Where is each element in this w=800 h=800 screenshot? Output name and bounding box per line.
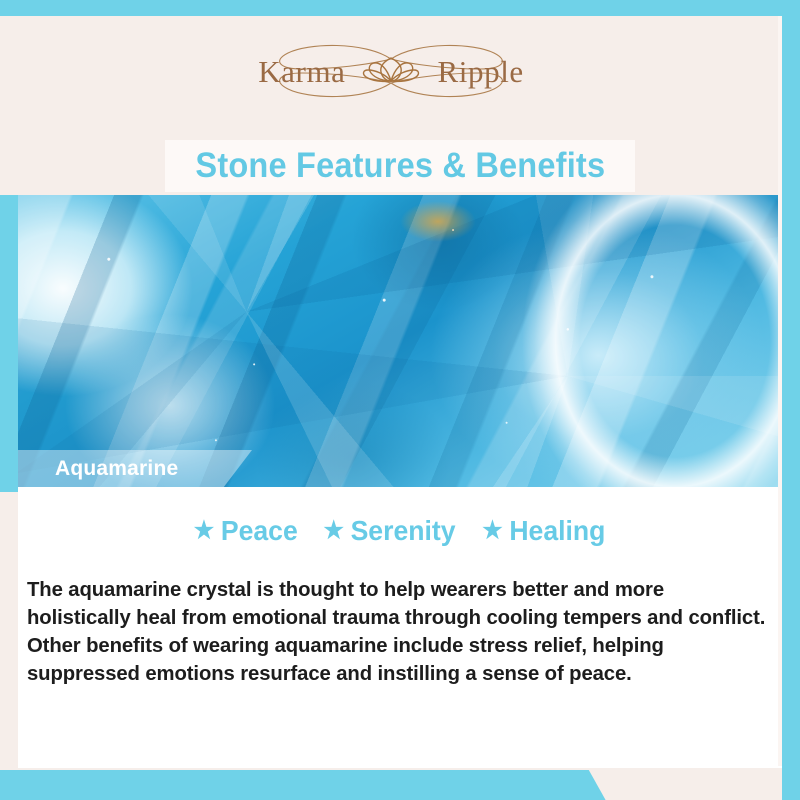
benefit-label: Peace bbox=[221, 515, 298, 547]
brand-logo: Karma Ripple bbox=[236, 39, 546, 103]
brand-name-second: Ripple bbox=[438, 56, 524, 87]
aquamarine-crystal-photo bbox=[17, 195, 782, 487]
benefit-item: ★ Serenity bbox=[324, 515, 456, 547]
brand-header: Karma Ripple bbox=[0, 16, 782, 126]
lotus-icon bbox=[364, 58, 419, 81]
brand-name-first: Karma bbox=[258, 56, 345, 87]
stone-name-label: Aquamarine bbox=[55, 457, 178, 481]
left-accent-band bbox=[0, 195, 18, 492]
benefit-label: Serenity bbox=[351, 515, 456, 547]
top-accent-band bbox=[0, 0, 800, 16]
photo-warm-highlight bbox=[400, 201, 477, 242]
right-accent-gap bbox=[778, 16, 782, 766]
right-accent-band bbox=[782, 0, 800, 800]
page-title: Stone Features & Benefits bbox=[195, 146, 605, 186]
stone-name-banner: Aquamarine bbox=[17, 450, 252, 487]
benefits-row: ★ Peace ★ Serenity ★ Healing bbox=[18, 512, 782, 550]
star-icon: ★ bbox=[324, 519, 344, 543]
photo-rim-light bbox=[522, 195, 782, 487]
stone-description: The aquamarine crystal is thought to hel… bbox=[27, 576, 772, 688]
star-icon: ★ bbox=[483, 519, 503, 543]
benefit-label: Healing bbox=[510, 515, 606, 547]
section-title-banner: Stone Features & Benefits bbox=[165, 140, 635, 192]
benefit-item: ★ Healing bbox=[483, 515, 606, 547]
star-icon: ★ bbox=[194, 519, 214, 543]
infographic-card: Aquamarine bbox=[0, 0, 800, 800]
benefit-item: ★ Peace bbox=[194, 515, 298, 547]
